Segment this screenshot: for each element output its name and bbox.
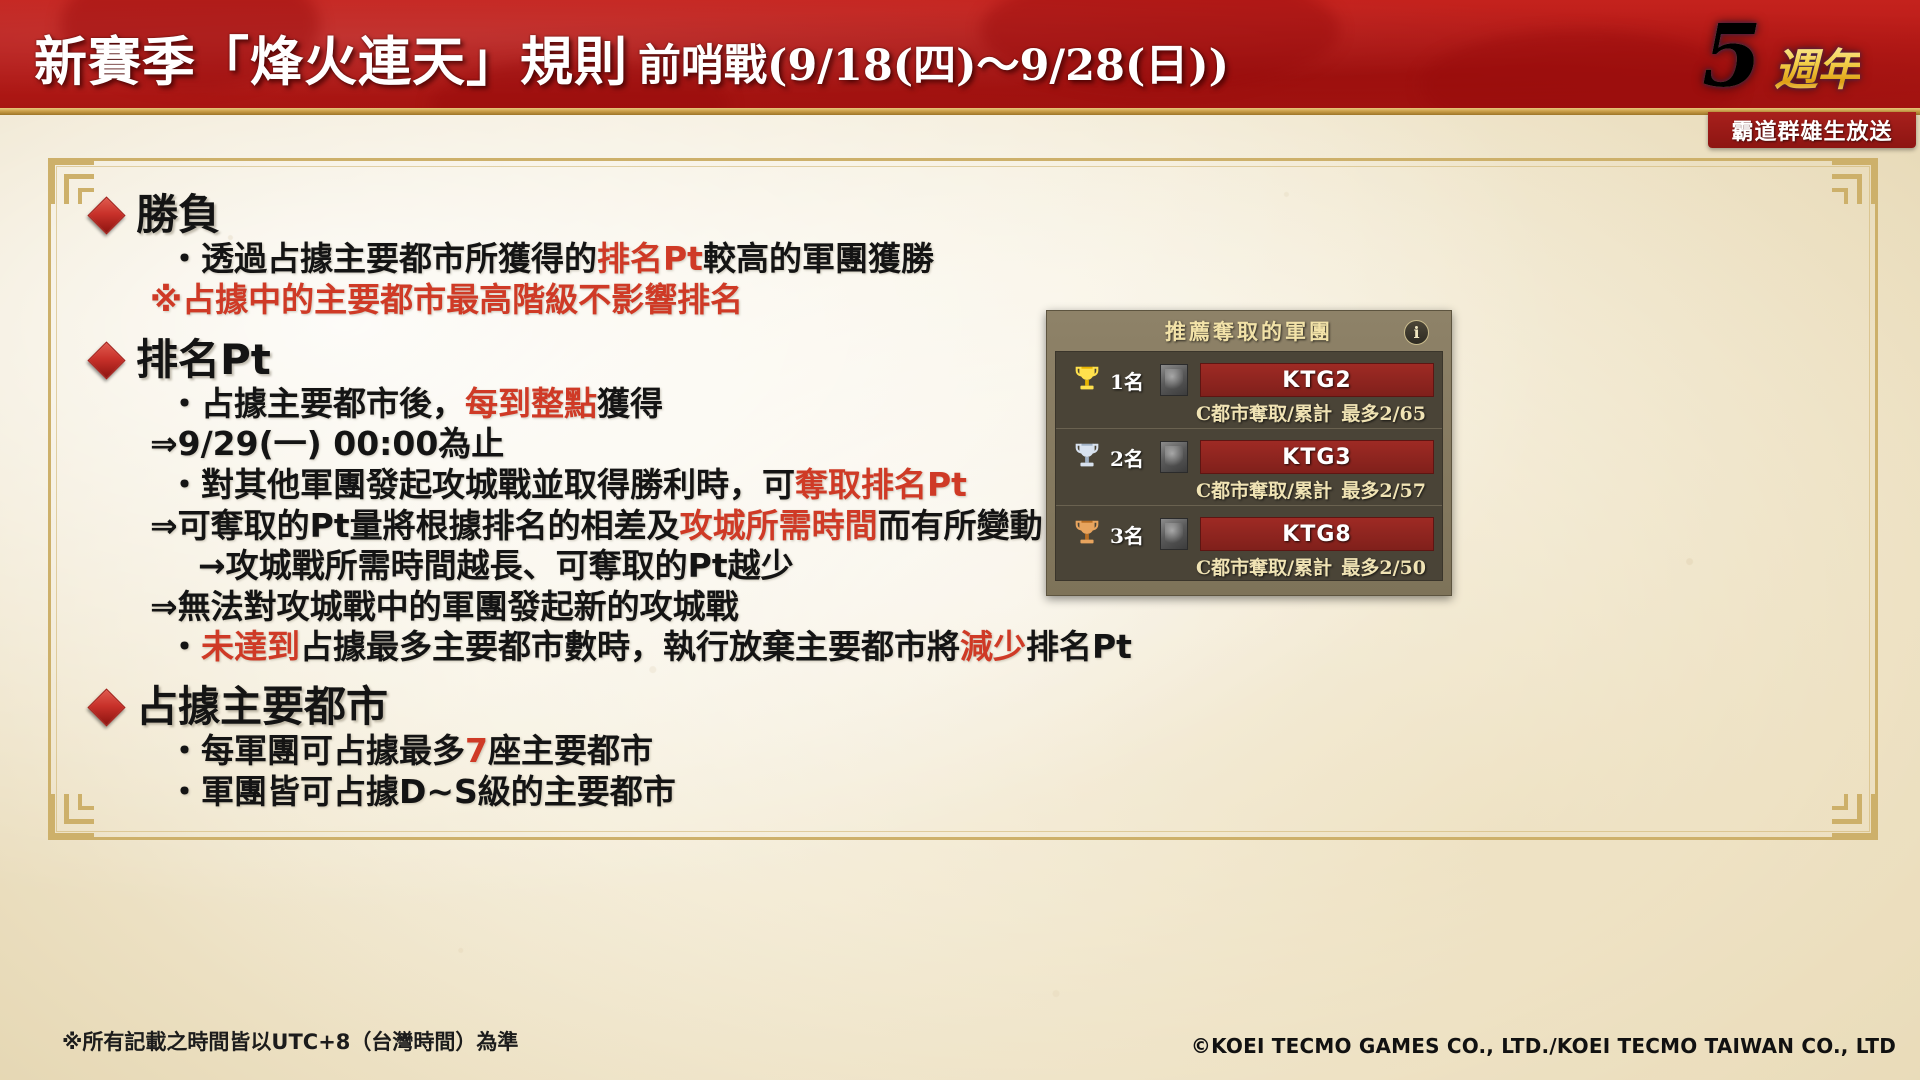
guild-name-label: KTG3: [1282, 445, 1351, 470]
metric-label: C都市奪取/累計: [1196, 476, 1332, 503]
rule-text: ・軍團皆可占據D~S級的主要都市: [168, 772, 676, 811]
header-texture: [1420, 30, 1740, 108]
guild-rank-row[interactable]: 1名KTG2C都市奪取/累計最多2/65: [1056, 352, 1442, 429]
metric-value: 最多2/50: [1341, 553, 1426, 580]
rule-text-highlight: ※占據中的主要都市最高階級不影響排名: [150, 280, 743, 319]
rule-section: 勝負・透過占據主要都市所獲得的排名Pt較高的軍團獲勝※占據中的主要都市最高階級不…: [88, 192, 1088, 335]
diamond-bullet-icon: [88, 198, 122, 232]
rule-text: ・對其他軍團發起攻城戰並取得勝利時，可: [168, 465, 795, 504]
rule-line: ・軍團皆可占據D~S級的主要都市: [168, 772, 1088, 813]
gold-trophy-icon: [1072, 364, 1102, 394]
rank-label: 2名: [1110, 443, 1144, 472]
recommended-guild-panel: 推薦奪取的軍團 i 1名KTG2C都市奪取/累計最多2/652名KTG3C都市奪…: [1046, 310, 1452, 596]
title-sub: 前哨戰(9/18(四)～9/28(日)): [638, 41, 1229, 91]
guild-name-label: KTG2: [1282, 368, 1351, 393]
info-icon[interactable]: i: [1404, 320, 1429, 345]
frame-corner-bottom-right: [1814, 776, 1878, 840]
rule-line: →攻城戰所需時間越長、可奪取的Pt越少: [198, 546, 1088, 587]
page-title: 新賽季「烽火連天」規則前哨戰(9/18(四)～9/28(日)): [34, 20, 1229, 96]
metric-value: 最多2/65: [1341, 399, 1426, 426]
rule-line: ※占據中的主要都市最高階級不影響排名: [150, 280, 1088, 321]
section-spacer: [88, 321, 1088, 335]
section-heading: 占據主要都市: [88, 684, 1088, 729]
rule-section: 排名Pt・占據主要都市後，每到整點獲得⇒9/29(一) 00:00為止・對其他軍…: [88, 337, 1088, 682]
rule-line: ・每軍團可占據最多7座主要都市: [168, 731, 1088, 772]
rule-text: ・透過占據主要都市所獲得的: [168, 239, 597, 278]
guild-rank-row[interactable]: 3名KTG8C都市奪取/累計最多2/50: [1056, 506, 1442, 582]
rule-line: ・對其他軍團發起攻城戰並取得勝利時，可奪取排名Pt: [168, 465, 1088, 506]
diamond-bullet-icon: [88, 342, 122, 376]
section-spacer: [88, 668, 1088, 682]
rule-text: ⇒可奪取的Pt量將根據排名的相差及: [150, 506, 680, 545]
rule-text: ⇒9/29(一) 00:00為止: [150, 424, 504, 463]
section-title: 占據主要都市: [136, 684, 388, 729]
anniversary-number: 5: [1702, 6, 1762, 107]
section-spacer: [88, 812, 1088, 826]
rule-line: ⇒無法對攻城戰中的軍團發起新的攻城戰: [150, 587, 1088, 628]
section-heading: 勝負: [88, 192, 1088, 237]
broadcast-badge: 霸道群雄生放送: [1708, 112, 1916, 148]
rule-text: ⇒無法對攻城戰中的軍團發起新的攻城戰: [150, 587, 739, 626]
rules-content: 勝負・透過占據主要都市所獲得的排名Pt較高的軍團獲勝※占據中的主要都市最高階級不…: [88, 192, 1088, 828]
header-underline: [0, 108, 1920, 115]
rule-text-highlight: 攻城所需時間: [680, 506, 878, 545]
bronze-trophy-icon: [1072, 518, 1102, 548]
rule-text: 排名Pt: [1026, 627, 1132, 666]
footer-note: ※所有記載之時間皆以UTC+8（台灣時間）為準: [62, 1026, 518, 1056]
rank-label: 1名: [1110, 366, 1144, 395]
rule-text: ・: [168, 627, 201, 666]
rule-line: ⇒可奪取的Pt量將根據排名的相差及攻城所需時間而有所變動: [150, 506, 1088, 547]
rule-line: ・占據主要都市後，每到整點獲得: [168, 384, 1088, 425]
rule-text: 較高的軍團獲勝: [703, 239, 934, 278]
rule-text-highlight: 7: [465, 731, 488, 770]
broadcast-label: 霸道群雄生放送: [1731, 114, 1892, 146]
rule-text: ・每軍團可占據最多: [168, 731, 465, 770]
diamond-bullet-icon: [88, 690, 122, 724]
guild-emblem-icon: [1160, 441, 1188, 473]
rule-line: ・透過占據主要都市所獲得的排名Pt較高的軍團獲勝: [168, 239, 1088, 280]
rule-text: 座主要都市: [488, 731, 653, 770]
header-bar: 新賽季「烽火連天」規則前哨戰(9/18(四)～9/28(日)) 5 週年: [0, 0, 1920, 108]
section-heading: 排名Pt: [88, 337, 1088, 382]
metric-value: 最多2/57: [1341, 476, 1426, 503]
guild-name-box[interactable]: KTG3: [1200, 440, 1434, 474]
guild-emblem-icon: [1160, 364, 1188, 396]
guild-name-box[interactable]: KTG2: [1200, 363, 1434, 397]
section-title: 排名Pt: [136, 337, 271, 382]
rule-text: 而有所變動: [878, 506, 1043, 545]
guild-emblem-icon: [1160, 518, 1188, 550]
panel-header: 推薦奪取的軍團 i: [1047, 311, 1451, 351]
guild-name-label: KTG8: [1282, 522, 1351, 547]
guild-rank-list: 1名KTG2C都市奪取/累計最多2/652名KTG3C都市奪取/累計最多2/57…: [1055, 351, 1443, 581]
section-title: 勝負: [136, 192, 220, 237]
rule-text-highlight: 奪取排名Pt: [795, 465, 967, 504]
silver-trophy-icon: [1072, 441, 1102, 471]
copyright-text: ©KOEI TECMO GAMES CO., LTD./KOEI TECMO T…: [1191, 1034, 1896, 1058]
metric-label: C都市奪取/累計: [1196, 553, 1332, 580]
rule-text-highlight: 減少: [960, 627, 1026, 666]
rule-text: →攻城戰所需時間越長、可奪取的Pt越少: [198, 546, 794, 585]
rule-text: ・占據主要都市後，: [168, 384, 465, 423]
metric-label: C都市奪取/累計: [1196, 399, 1332, 426]
panel-title-label: 推薦奪取的軍團: [1165, 316, 1333, 346]
rule-text-highlight: 未達到: [201, 627, 300, 666]
rule-text: 獲得: [597, 384, 663, 423]
title-main: 新賽季「烽火連天」規則: [34, 31, 628, 93]
rule-text-highlight: 每到整點: [465, 384, 597, 423]
anniversary-unit: 週年: [1774, 34, 1860, 98]
rule-text: 占據最多主要都市數時，執行放棄主要都市將: [300, 627, 960, 666]
guild-rank-row[interactable]: 2名KTG3C都市奪取/累計最多2/57: [1056, 429, 1442, 506]
rule-line: ⇒9/29(一) 00:00為止: [150, 424, 1088, 465]
rule-section: 占據主要都市・每軍團可占據最多7座主要都市・軍團皆可占據D~S級的主要都市: [88, 684, 1088, 827]
rule-text-highlight: 排名Pt: [597, 239, 703, 278]
rank-label: 3名: [1110, 520, 1144, 549]
rule-line: ・未達到占據最多主要都市數時，執行放棄主要都市將減少排名Pt: [168, 627, 1088, 668]
guild-name-box[interactable]: KTG8: [1200, 517, 1434, 551]
frame-corner-top-right: [1814, 158, 1878, 222]
anniversary-logo: 5 週年: [1696, 4, 1906, 108]
